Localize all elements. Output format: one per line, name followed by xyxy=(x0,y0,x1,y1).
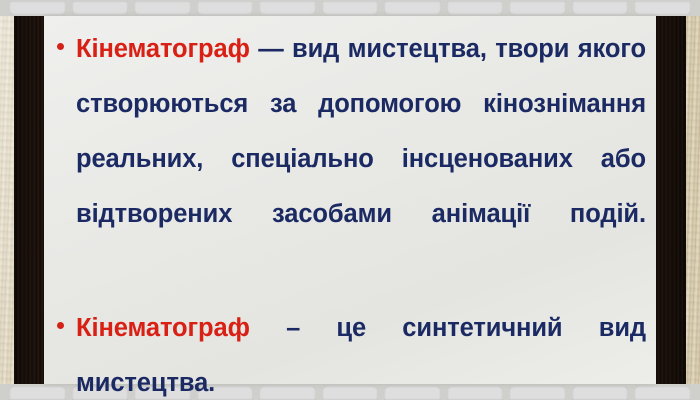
sprocket-hole xyxy=(197,1,254,15)
separator-dash-1: — xyxy=(250,35,292,63)
sprocket-hole xyxy=(447,1,504,15)
bullet-body-text-1: вид мистецтва, твори якого створюються з… xyxy=(76,35,646,228)
slide-content-pane: Кінематограф — вид мистецтва, твори яког… xyxy=(44,16,656,384)
keyword-cinematography-2: Кінематограф xyxy=(76,314,250,342)
list-item: Кінематограф — вид мистецтва, твори яког… xyxy=(48,22,646,297)
list-item: Кінематограф – це синтетичний вид мистец… xyxy=(48,301,646,400)
sprocket-hole xyxy=(384,1,441,15)
bullet-paragraph-1: Кінематограф — вид мистецтва, твори яког… xyxy=(76,22,646,297)
slide-canvas: Кінематограф — вид мистецтва, твори яког… xyxy=(0,0,700,400)
sprocket-hole xyxy=(572,1,629,15)
definition-bullet-list: Кінематограф — вид мистецтва, твори яког… xyxy=(48,22,646,400)
sprocket-hole xyxy=(72,1,129,15)
bullet-dot-icon xyxy=(57,322,64,329)
sprocket-hole xyxy=(134,1,191,15)
sprocket-hole xyxy=(9,1,66,15)
bullet-paragraph-2: Кінематограф – це синтетичний вид мистец… xyxy=(76,301,646,400)
sprocket-hole xyxy=(509,1,566,15)
sprocket-hole xyxy=(322,1,379,15)
sprocket-hole xyxy=(634,1,691,15)
sprocket-hole xyxy=(259,1,316,15)
sprocket-row-top xyxy=(0,0,700,16)
separator-dash-2: – xyxy=(250,314,337,342)
keyword-cinematography-1: Кінематограф xyxy=(76,35,250,63)
bullet-dot-icon xyxy=(57,43,64,50)
